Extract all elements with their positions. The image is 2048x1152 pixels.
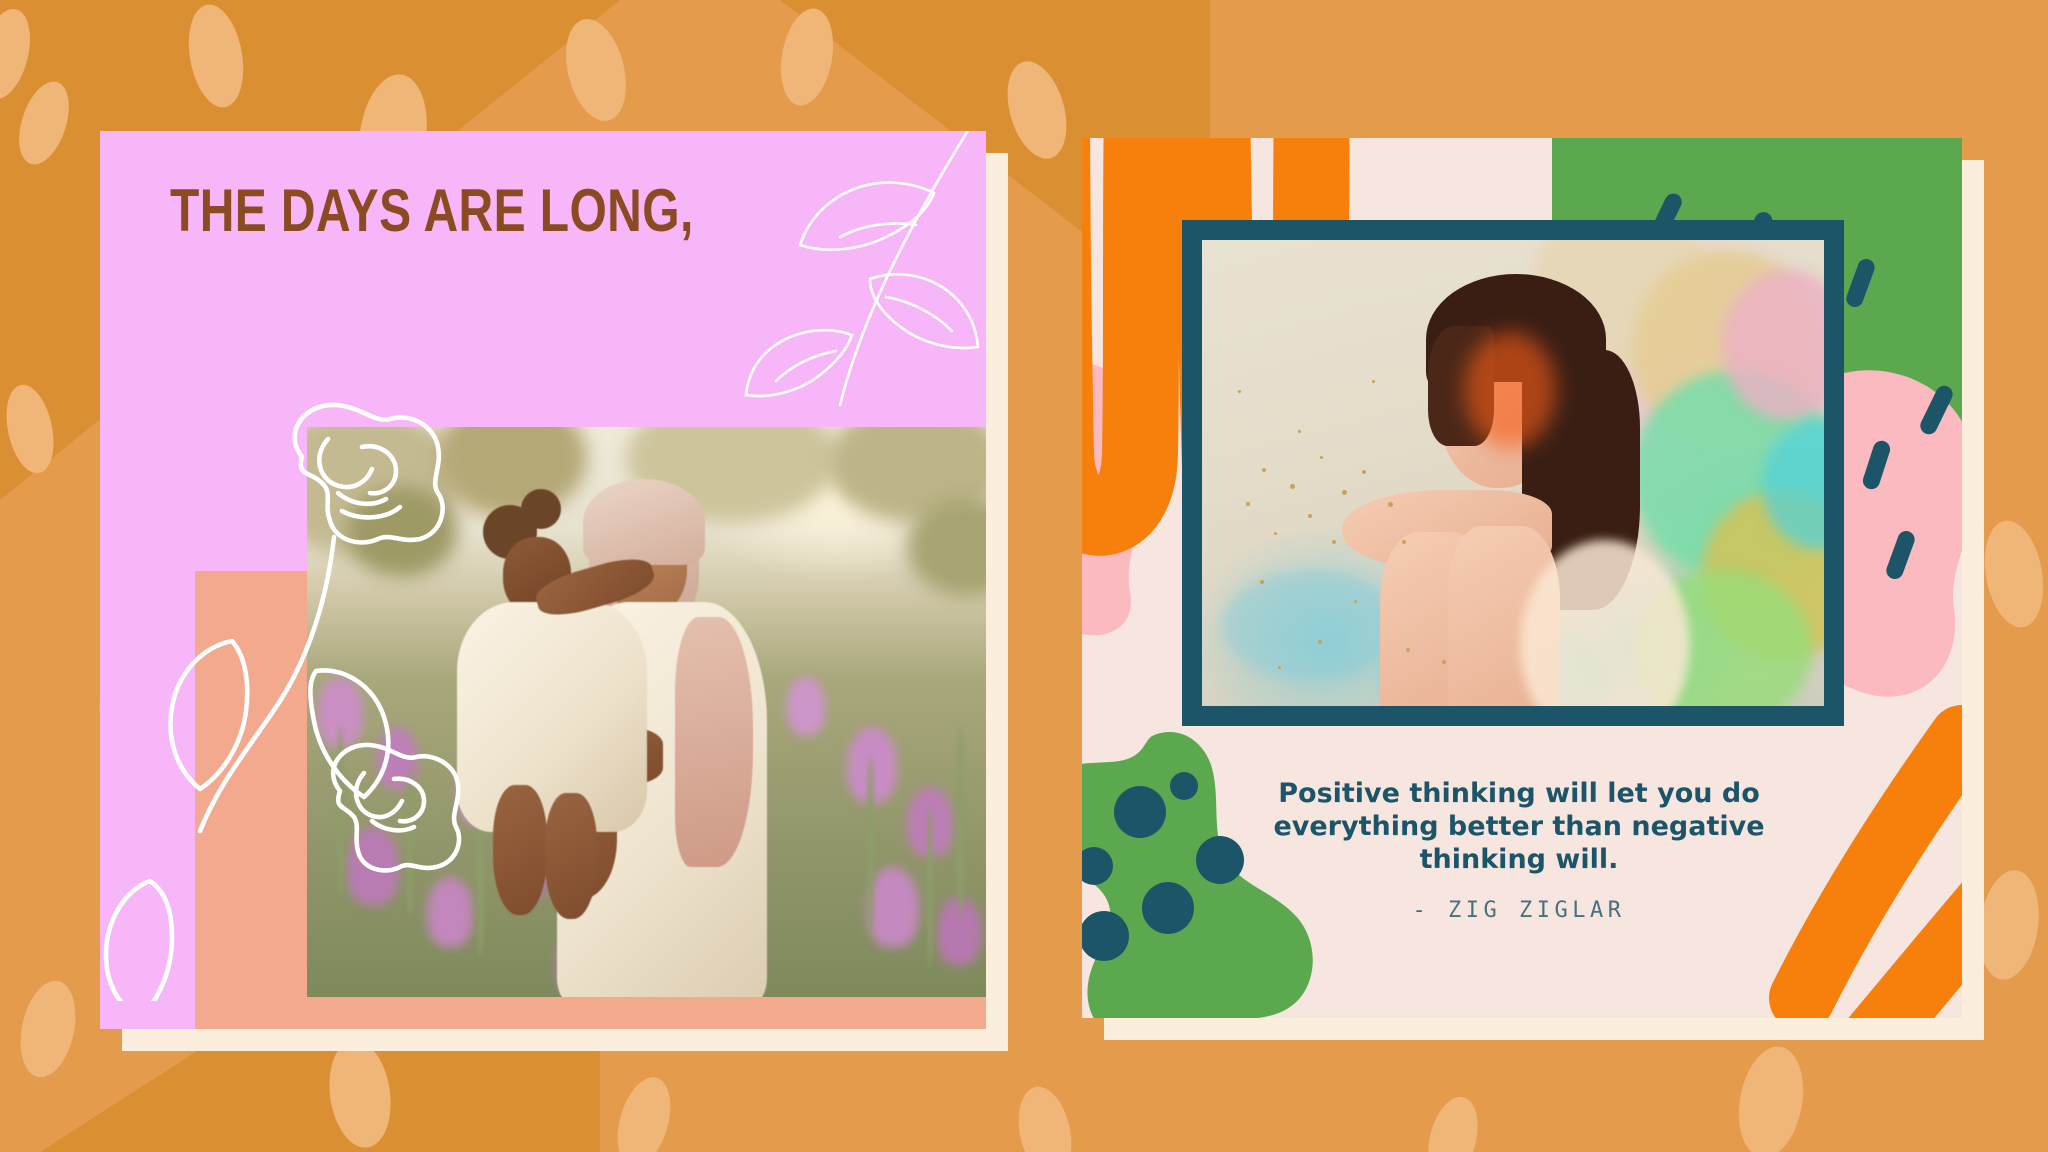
- quote-text: Positive thinking will let you do everyt…: [1254, 778, 1784, 877]
- left-card-photo: [307, 427, 986, 997]
- glitter-photo: [1202, 240, 1824, 706]
- background-speckle: [1731, 1041, 1812, 1152]
- left-card: THE DAYS ARE LONG,: [100, 131, 986, 1029]
- leaf-branch-line-art: [720, 131, 986, 421]
- left-card-headline: THE DAYS ARE LONG,: [170, 181, 778, 241]
- poster-canvas: THE DAYS ARE LONG,: [0, 0, 2048, 1152]
- background-speckle: [1420, 1092, 1485, 1152]
- right-card: Positive thinking will let you do everyt…: [1082, 138, 1962, 1018]
- background-speckle: [1977, 516, 2048, 632]
- quote-attribution: - ZIG ZIGLAR: [1254, 898, 1784, 923]
- background-speckle: [1011, 1082, 1079, 1152]
- right-card-photo-frame: [1182, 220, 1844, 726]
- background-speckle: [608, 1071, 679, 1152]
- meadow-photo-background: [307, 427, 986, 997]
